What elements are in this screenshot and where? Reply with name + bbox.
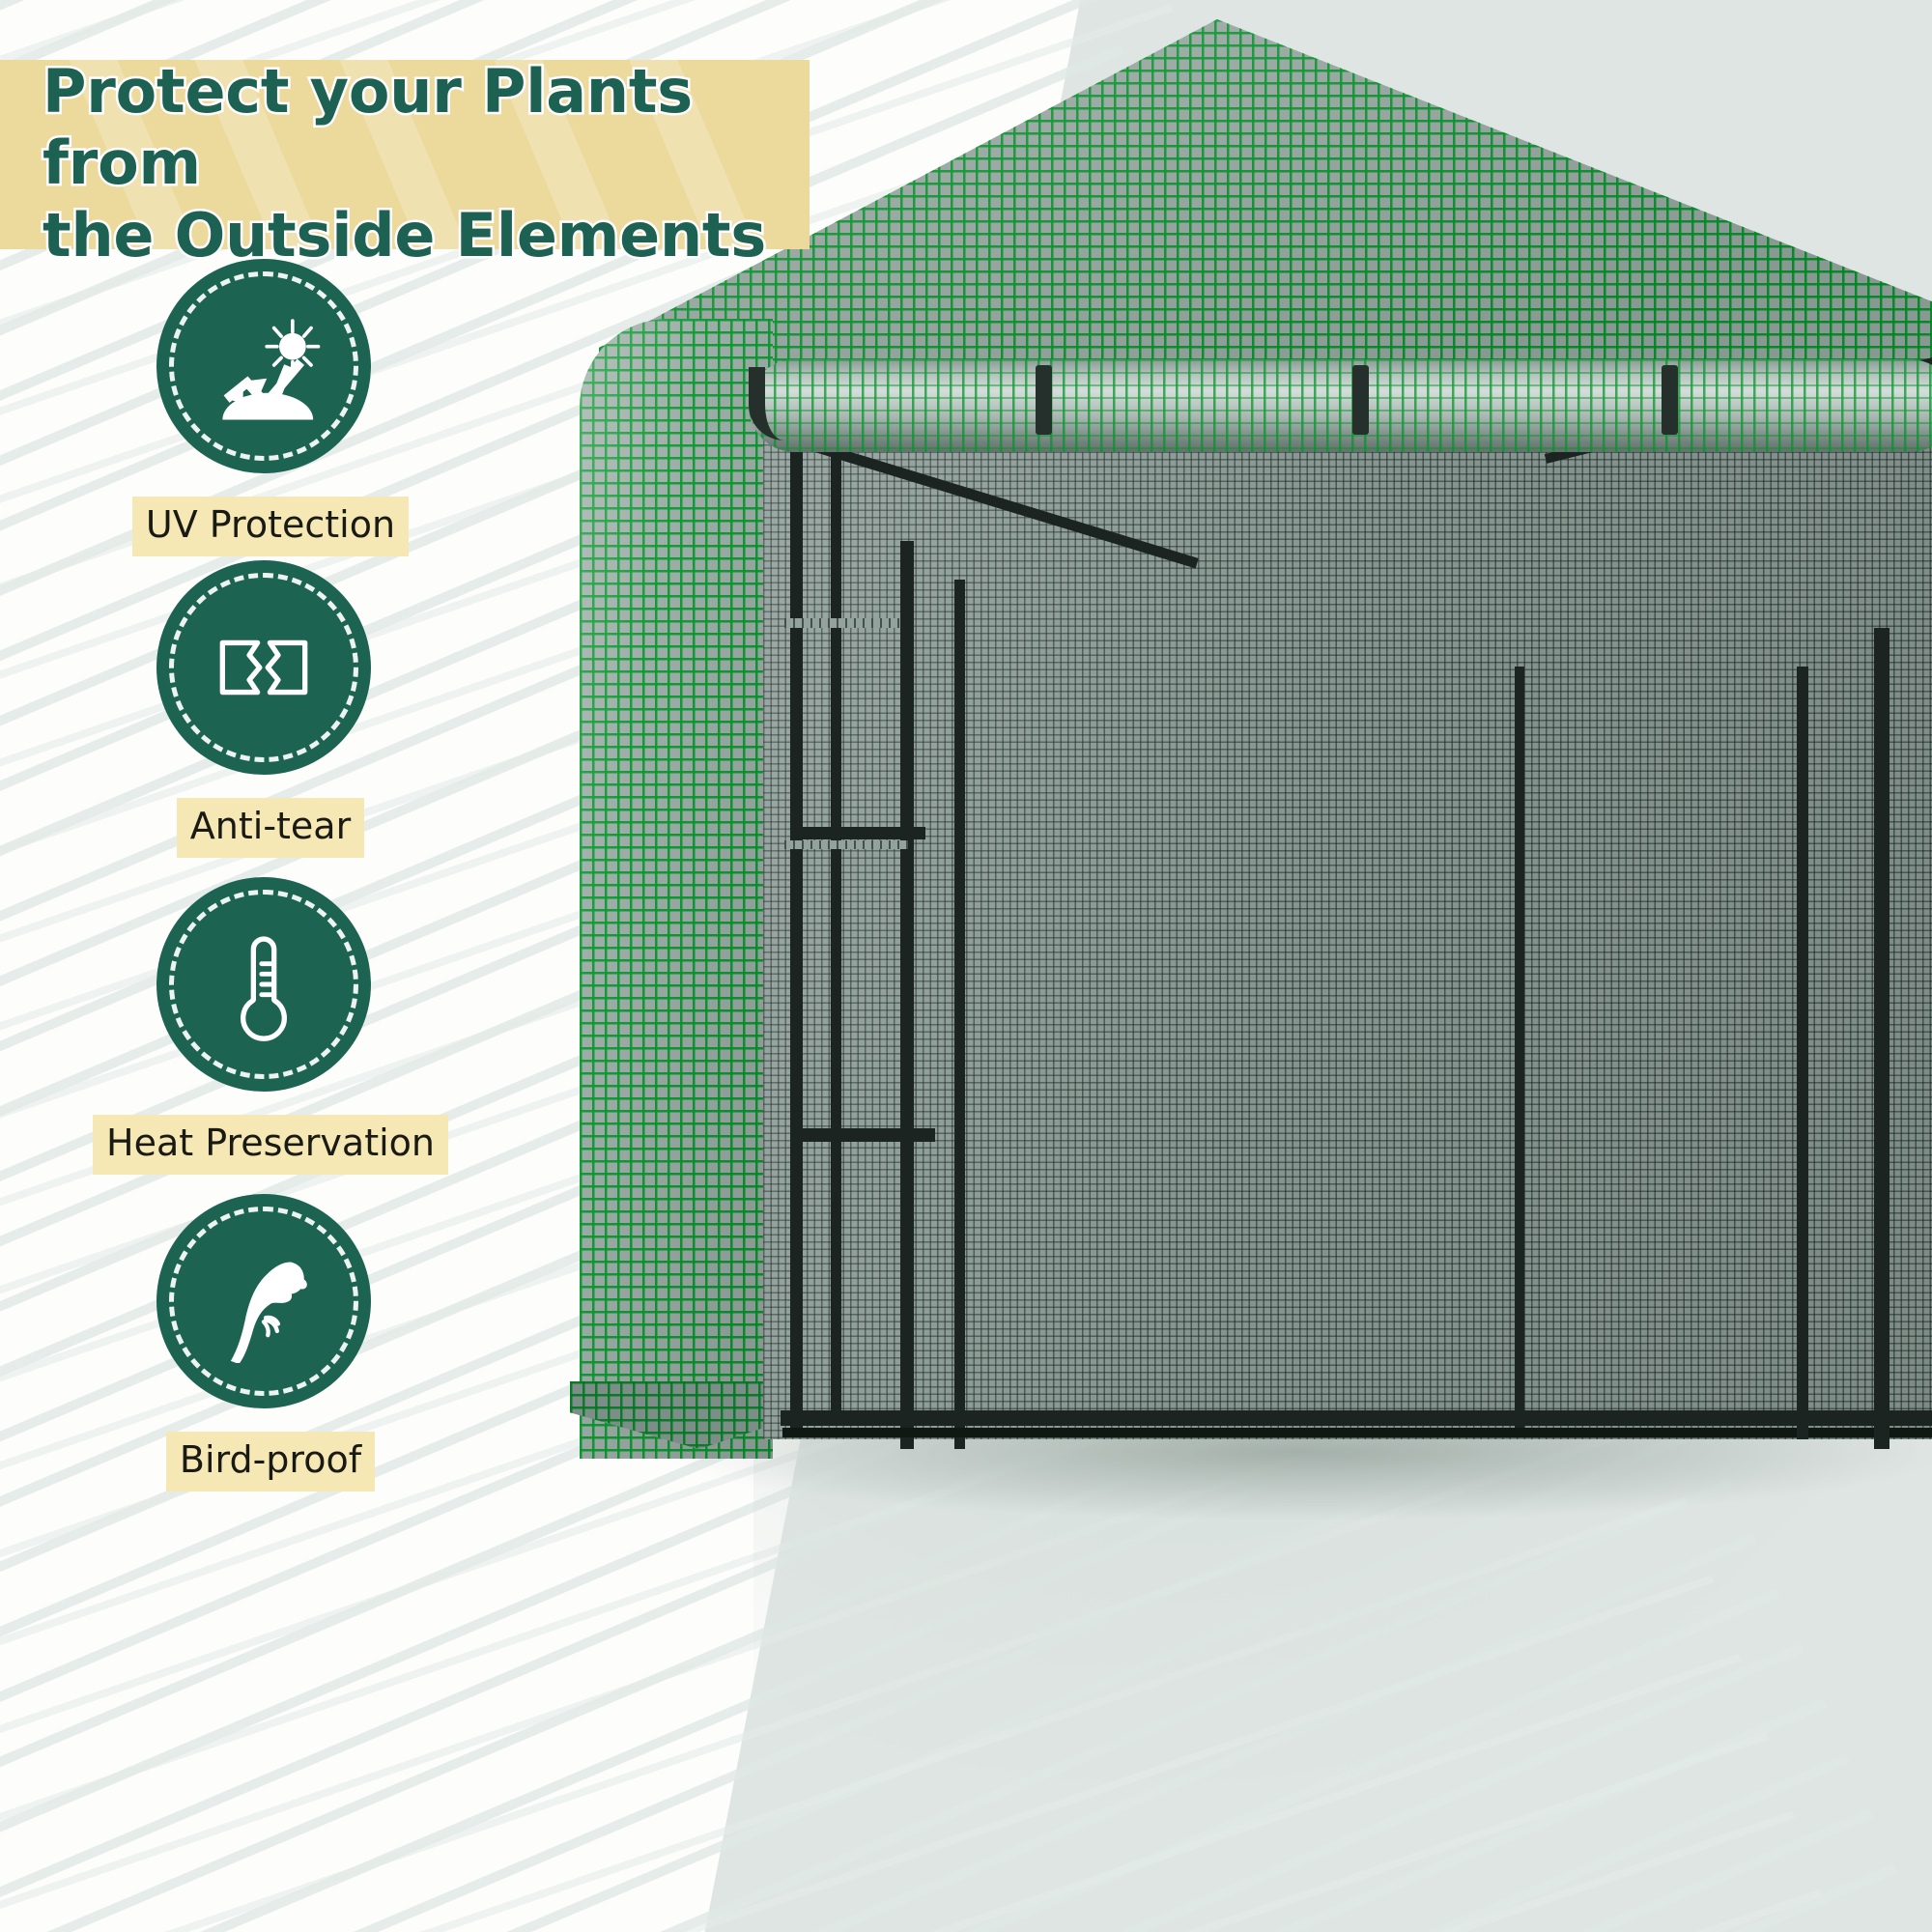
feature-label-wrap-uv: UV Protection: [0, 497, 541, 556]
headline-line-1: Protect your Plants from: [43, 56, 693, 198]
greenhouse-product-image: [541, 0, 1932, 1932]
roll-up-panel-mesh: [749, 359, 1932, 452]
feature-item-heat-preservation: Heat Preservation: [0, 877, 541, 1196]
panel-strap-2: [1036, 365, 1052, 435]
feature-label-uv-protection: UV Protection: [132, 497, 409, 556]
panel-strap-3: [1352, 365, 1369, 435]
feature-badge-heat-preservation: [156, 877, 371, 1092]
frame-rail-base: [781, 1410, 1932, 1426]
door-post-inner: [1797, 667, 1808, 1439]
frame-rail-mid-left: [790, 827, 925, 839]
feature-label-heat-preservation: Heat Preservation: [93, 1115, 448, 1175]
feature-badge-bird-proof: [156, 1194, 371, 1408]
roll-up-panel: [749, 359, 1932, 452]
gable-sheen: [580, 319, 773, 1459]
frame-post-door-left: [900, 541, 914, 1449]
feature-badge-uv-protection: [156, 259, 371, 473]
frame-post-right: [1515, 667, 1524, 1430]
frame-rail-low-left: [790, 1128, 935, 1142]
interior-shelf-mid: [784, 840, 908, 849]
feature-item-uv-protection: UV Protection: [0, 259, 541, 578]
feature-label-bird-proof: Bird-proof: [166, 1432, 375, 1492]
interior-shelf-upper: [784, 618, 900, 628]
thermometer-icon: [202, 923, 326, 1046]
greenhouse-front-screen: [763, 415, 1932, 1439]
panel-strap-4: [1662, 365, 1678, 435]
frame-post-door-right: [954, 580, 965, 1449]
feature-label-wrap-heat: Heat Preservation: [0, 1115, 541, 1175]
feature-item-anti-tear: Anti-tear: [0, 560, 541, 879]
poster-canvas: Protect your Plants from the Outside Ele…: [0, 0, 1932, 1932]
frame-post-left-inner: [831, 454, 841, 1420]
feature-label-wrap-tear: Anti-tear: [0, 798, 541, 858]
feature-badge-anti-tear: [156, 560, 371, 775]
front-screen-shading: [763, 415, 1932, 1439]
greenhouse-base-bar: [782, 1428, 1932, 1437]
door-post-outer: [1874, 628, 1889, 1449]
sun-uv-reflect-icon: [202, 304, 326, 428]
feature-label-wrap-bird: Bird-proof: [0, 1432, 541, 1492]
feature-item-bird-proof: Bird-proof: [0, 1194, 541, 1513]
greenhouse-gable-wall: [580, 319, 773, 1459]
bird-perched-icon: [202, 1239, 326, 1363]
torn-fabric-icon: [202, 606, 326, 729]
page-title: Protect your Plants from the Outside Ele…: [43, 56, 835, 271]
frame-post-left: [790, 437, 803, 1432]
feature-label-anti-tear: Anti-tear: [177, 798, 364, 858]
